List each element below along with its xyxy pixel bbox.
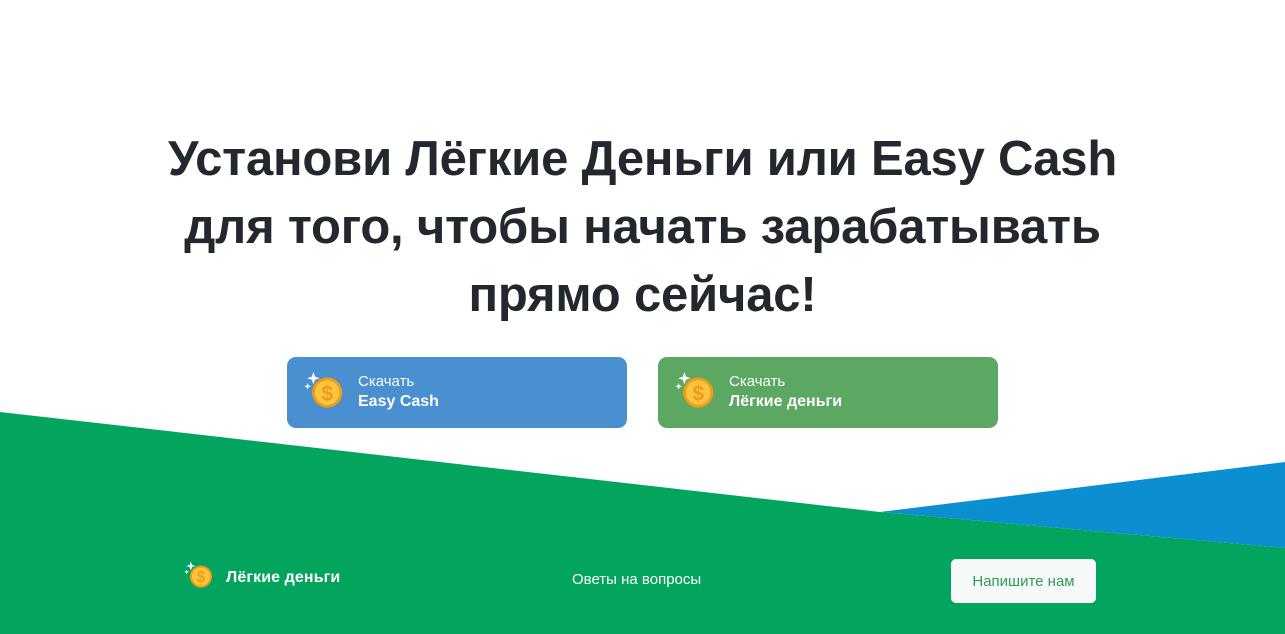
download-easy-cash-label-group: Скачать Easy Cash — [358, 372, 439, 413]
download-action-label: Скачать — [729, 372, 842, 391]
coin-dollar-icon: $ — [184, 560, 214, 595]
download-easy-cash-button[interactable]: $ Скачать Easy Cash — [287, 357, 627, 428]
svg-text:$: $ — [321, 382, 333, 405]
footer: $ Лёгкие деньги Оветы на вопросы Напишит… — [0, 548, 1285, 634]
download-legkie-dengi-label-group: Скачать Лёгкие деньги — [729, 372, 842, 413]
download-buttons-row: $ Скачать Easy Cash $ Скачать Лёгк — [0, 357, 1285, 428]
svg-text:$: $ — [692, 382, 704, 405]
contact-us-button[interactable]: Напишите нам — [951, 559, 1096, 603]
headline-line-1: Установи Лёгкие Деньги или Easy Cash — [60, 125, 1225, 193]
headline-line-2: для того, чтобы начать зарабатывать — [60, 193, 1225, 261]
coin-dollar-icon: $ — [304, 370, 345, 416]
footer-link-faq[interactable]: Оветы на вопросы — [572, 571, 701, 588]
download-app-name: Лёгкие деньги — [729, 391, 842, 413]
download-app-name: Easy Cash — [358, 391, 439, 413]
footer-brand-name: Лёгкие деньги — [226, 569, 340, 587]
footer-brand-logo[interactable]: $ Лёгкие деньги — [184, 560, 340, 595]
svg-text:$: $ — [197, 569, 206, 586]
download-legkie-dengi-button[interactable]: $ Скачать Лёгкие деньги — [658, 357, 998, 428]
page-title: Установи Лёгкие Деньги или Easy Cash для… — [0, 125, 1285, 329]
blue-diagonal-band — [880, 462, 1285, 548]
landing-page: Установи Лёгкие Деньги или Easy Cash для… — [0, 0, 1285, 634]
headline-line-3: прямо сейчас! — [60, 261, 1225, 329]
coin-dollar-icon: $ — [675, 370, 716, 416]
download-action-label: Скачать — [358, 372, 439, 391]
